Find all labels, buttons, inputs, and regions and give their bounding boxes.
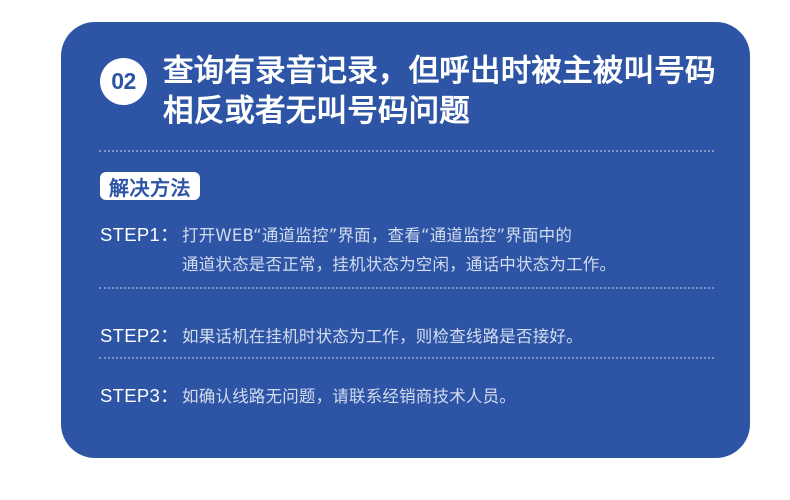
step-body-line: 如果话机在挂机时状态为工作，则检查线路是否接好。 (182, 322, 583, 351)
step-body-line: 打开WEB“通道监控”界面，查看“通道监控”界面中的 (182, 221, 616, 250)
divider-top (99, 150, 714, 152)
step-row: STEP3： 如确认线路无问题，请联系经销商技术人员。 (100, 382, 516, 411)
step-label: STEP3： (100, 382, 182, 411)
solution-label-badge: 解决方法 (100, 172, 200, 200)
step-body: 如确认线路无问题，请联系经销商技术人员。 (182, 382, 516, 411)
step-label: STEP1： (100, 221, 182, 250)
step-row: STEP2： 如果话机在挂机时状态为工作，则检查线路是否接好。 (100, 322, 583, 351)
divider-after-step2 (99, 357, 714, 359)
step-body: 如果话机在挂机时状态为工作，则检查线路是否接好。 (182, 322, 583, 351)
step-row: STEP1： 打开WEB“通道监控”界面，查看“通道监控”界面中的 通道状态是否… (100, 221, 616, 280)
step-body-line: 通道状态是否正常，挂机状态为空闲，通话中状态为工作。 (182, 250, 616, 279)
page-title: 查询有录音记录，但呼出时被主被叫号码相反或者无叫号码问题 (163, 52, 720, 133)
step-number-badge: 02 (100, 58, 147, 105)
solution-card: 02 查询有录音记录，但呼出时被主被叫号码相反或者无叫号码问题 解决方法 STE… (61, 22, 750, 458)
card-header: 02 查询有录音记录，但呼出时被主被叫号码相反或者无叫号码问题 (100, 52, 720, 133)
step-body-line: 如确认线路无问题，请联系经销商技术人员。 (182, 382, 516, 411)
step-body: 打开WEB“通道监控”界面，查看“通道监控”界面中的 通道状态是否正常，挂机状态… (182, 221, 616, 280)
divider-after-step1 (99, 287, 714, 289)
page-root: 02 查询有录音记录，但呼出时被主被叫号码相反或者无叫号码问题 解决方法 STE… (0, 0, 790, 500)
step-label: STEP2： (100, 322, 182, 351)
